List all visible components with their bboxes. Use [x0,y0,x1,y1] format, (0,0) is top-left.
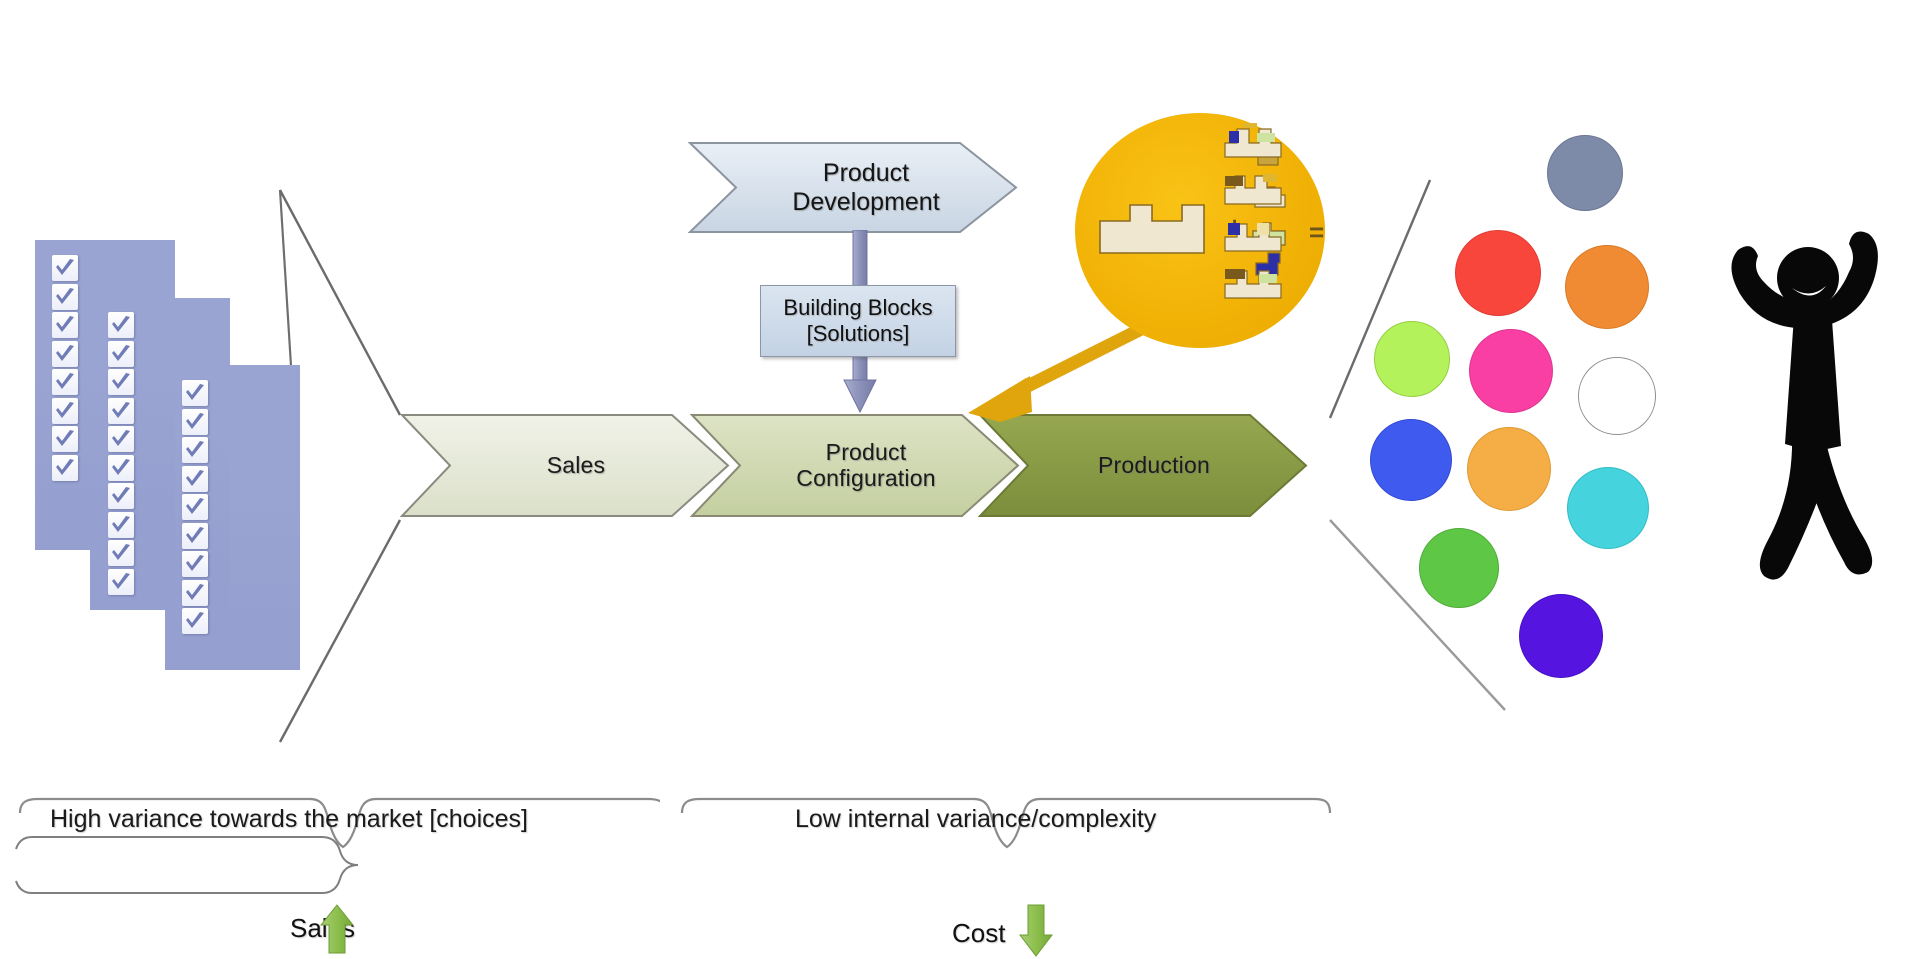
variant-dot[interactable] [1467,427,1551,511]
checkbox-checked-icon[interactable] [52,312,78,338]
checkbox-checked-icon[interactable] [108,426,134,452]
checkbox-checked-icon[interactable] [108,312,134,338]
checkbox-checked-icon[interactable] [182,494,208,520]
checkbox-checked-icon[interactable] [182,466,208,492]
variant-result-3 [1223,213,1283,255]
variant-result-4 [1223,260,1283,302]
checkbox-checked-icon[interactable] [108,512,134,538]
checkbox-checked-icon[interactable] [182,608,208,634]
checkbox-checked-icon[interactable] [108,341,134,367]
checkbox-checked-icon[interactable] [182,580,208,606]
checkbox-checked-icon[interactable] [52,341,78,367]
checkbox-checked-icon[interactable] [182,437,208,463]
checkbox-checked-icon[interactable] [182,523,208,549]
process-step-label: Sales [525,453,606,479]
brace-right-label: Low internal variance/complexity [795,805,1156,834]
checkbox-checked-icon[interactable] [52,455,78,481]
building-blocks-label: Building Blocks [Solutions] [783,295,932,347]
variant-result-2 [1223,166,1283,208]
variant-dot[interactable] [1578,357,1656,435]
brace-left-label: High variance towards the market [choice… [50,805,528,834]
variant-dot[interactable] [1565,245,1649,329]
checkbox-checked-icon[interactable] [108,455,134,481]
checkbox-checked-icon[interactable] [52,284,78,310]
product-development-banner[interactable]: Product Development [688,140,1018,235]
checkbox-checked-icon[interactable] [108,569,134,595]
variant-dot[interactable] [1519,594,1603,678]
checkbox-checked-icon[interactable] [182,409,208,435]
checkbox-checked-icon[interactable] [108,540,134,566]
variant-result-1 [1223,119,1283,161]
variant-dot[interactable] [1455,230,1541,316]
checkbox-checked-icon[interactable] [182,551,208,577]
product-development-label: Product Development [766,159,939,217]
process-step-label: Production [1076,453,1210,479]
diagram-canvas: Product Development Building Blocks [Sol… [0,0,1920,959]
svg-text:=: = [1309,217,1324,247]
variant-dot[interactable] [1370,419,1452,501]
checkbox-checked-icon[interactable] [182,380,208,406]
variant-dot[interactable] [1419,528,1499,608]
process-step-label: Product Configuration [774,440,935,492]
checkbox-checked-icon[interactable] [108,483,134,509]
checkbox-checked-icon[interactable] [52,255,78,281]
block-combination-callout[interactable]: + = [1075,113,1325,348]
arrow-down-icon [1019,903,1055,958]
building-blocks-box[interactable]: Building Blocks [Solutions] [760,285,956,357]
checkbox-checked-icon[interactable] [52,426,78,452]
variant-dot[interactable] [1547,135,1623,211]
checkbox-checked-icon[interactable] [108,398,134,424]
checkbox-checked-icon[interactable] [108,369,134,395]
cost-metric-label: Cost [952,918,1005,949]
process-step-sales[interactable]: Sales [400,412,730,519]
checkbox-checked-icon[interactable] [52,398,78,424]
arrow-up-icon [320,903,356,955]
variant-dot[interactable] [1567,467,1649,549]
celebrating-person-icon [1700,210,1915,600]
variant-dot[interactable] [1469,329,1553,413]
variant-dot[interactable] [1374,321,1450,397]
checkbox-checked-icon[interactable] [52,369,78,395]
